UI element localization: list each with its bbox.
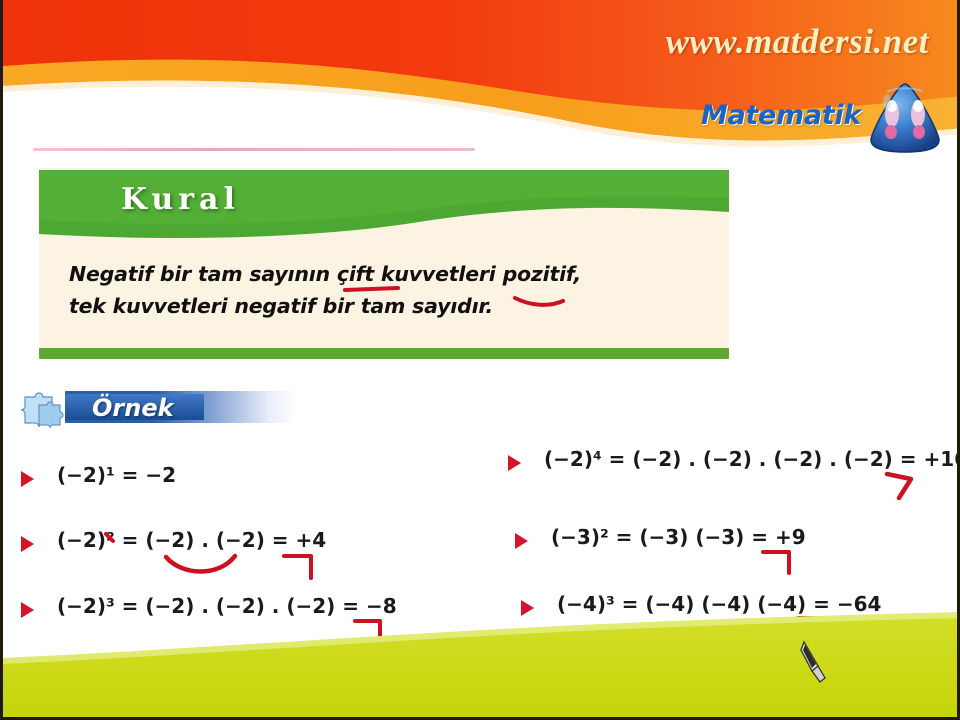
- annotation-bracket-r2: [763, 552, 789, 573]
- header-banner: www.matdersi.net Matematik: [3, 0, 960, 160]
- triangle-bullet-icon: [21, 471, 34, 487]
- lesson-slide: www.matdersi.net Matematik: [0, 0, 960, 720]
- triangle-bullet-icon: [515, 533, 528, 549]
- example-title: Örnek: [92, 394, 174, 422]
- rule-text-line-1: Negatif bir tam sayının çift kuvvetleri …: [69, 262, 581, 286]
- mascot-logo-icon: [865, 80, 945, 155]
- example-header: Örnek: [17, 385, 297, 431]
- rule-text-line-2: tek kuvvetleri negatif bir tam sayıdır.: [69, 294, 493, 318]
- equation-text: (−2)² = (−2) . (−2) = +4: [57, 528, 326, 552]
- rule-box-footer-strip: [39, 338, 729, 348]
- pink-divider: [33, 148, 475, 151]
- brand-title: Matematik: [701, 100, 861, 131]
- annotation-arc-l2: [166, 556, 235, 572]
- triangle-bullet-icon: [21, 536, 34, 552]
- triangle-bullet-icon: [508, 455, 521, 471]
- annotation-bracket-l2: [284, 556, 311, 578]
- puzzle-piece-icon: [17, 385, 79, 431]
- pen-cursor-icon: [798, 640, 832, 686]
- rule-box-header: Kural: [39, 168, 729, 246]
- rule-box-bottom-bar: [39, 348, 729, 359]
- rule-box: Kural Negatif bir tam sayının çift kuvve…: [39, 168, 729, 373]
- equation-text: (−2)¹ = −2: [57, 463, 176, 487]
- rule-box-body: Negatif bir tam sayının çift kuvvetleri …: [39, 246, 729, 338]
- equation-text: (−2)⁴ = (−2) . (−2) . (−2) . (−2) = +16: [544, 447, 960, 471]
- site-url-text: www.matdersi.net: [666, 22, 929, 62]
- equation-text: (−3)² = (−3) (−3) = +9: [551, 525, 806, 549]
- rule-title: Kural: [121, 182, 240, 217]
- annotation-check-r1: [887, 474, 911, 498]
